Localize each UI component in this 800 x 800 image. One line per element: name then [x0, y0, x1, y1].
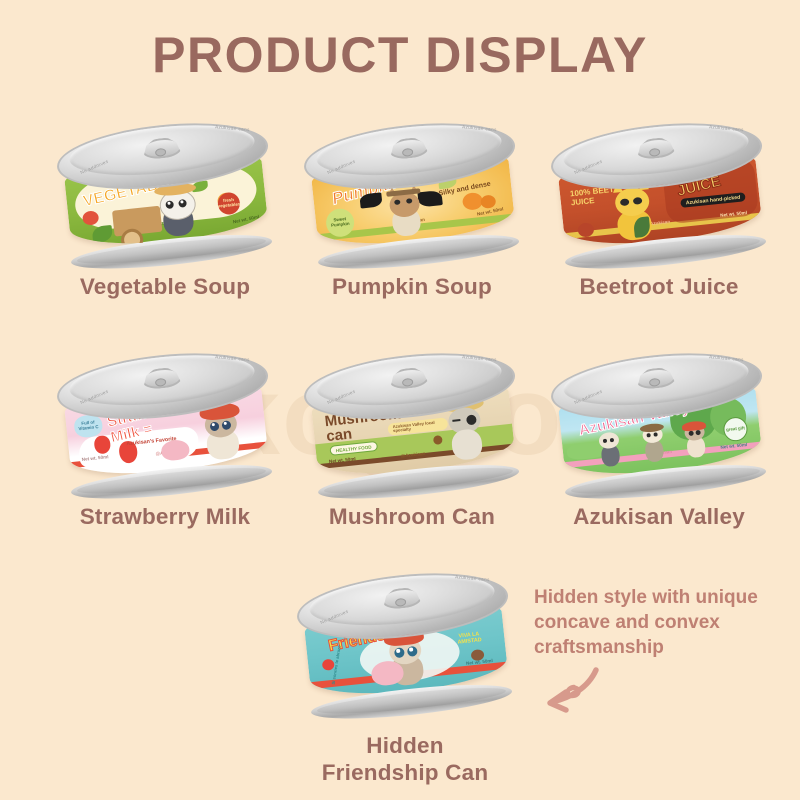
- product-caption: Azukisan Valley: [534, 504, 784, 531]
- pull-tab-icon: [628, 131, 683, 164]
- can-image-beetroot-juice: BEETROOT JUICE 100% BEET JUICE Azukisan …: [544, 115, 774, 265]
- product-card-strawberry-milk[interactable]: Strawberry = Milk = Azukisan's Favorite …: [40, 345, 290, 531]
- pull-tab-icon: [381, 131, 436, 164]
- can-image-strawberry-milk: Strawberry = Milk = Azukisan's Favorite …: [50, 345, 280, 495]
- product-caption: Hidden Friendship Can: [280, 733, 530, 786]
- product-caption: Vegetable Soup: [40, 274, 290, 301]
- product-display-page: Kikogoods PRODUCT DISPLAY VEGETABLE SOUP…: [0, 0, 800, 800]
- product-card-beetroot-juice[interactable]: BEETROOT JUICE 100% BEET JUICE Azukisan …: [534, 115, 784, 301]
- pull-tab-icon: [134, 361, 189, 394]
- product-caption: Strawberry Milk: [40, 504, 290, 531]
- can-image-pumpkin-soup: Pumpkin Soup Silky and dense Sweet Pumpk…: [297, 115, 527, 265]
- pull-tab-icon: [628, 361, 683, 394]
- product-caption-line2: Friendship Can: [280, 760, 530, 787]
- product-card-hidden-friendship-can[interactable]: Friendship Can VIVA LA AMISTAD Si sonrie…: [280, 565, 530, 786]
- page-title: PRODUCT DISPLAY: [0, 26, 800, 84]
- product-card-vegetable-soup[interactable]: VEGETABLE SOUP have you had soup today f…: [40, 115, 290, 301]
- curved-arrow-left-icon: [500, 662, 610, 722]
- can-image-vegetable-soup: VEGETABLE SOUP have you had soup today f…: [50, 115, 280, 265]
- product-caption: Mushroom Can: [287, 504, 537, 531]
- can-image-mushroom-can: Mushroom can HEALTHY FOOD Azukisan Valle…: [297, 345, 527, 495]
- product-card-pumpkin-soup[interactable]: Pumpkin Soup Silky and dense Sweet Pumpk…: [287, 115, 537, 301]
- product-card-mushroom-can[interactable]: Mushroom can HEALTHY FOOD Azukisan Valle…: [287, 345, 537, 531]
- pull-tab-icon: [381, 361, 436, 394]
- product-card-azukisan-valley[interactable]: Azukisan Valley A daily taste of joy gre…: [534, 345, 784, 531]
- product-caption: Pumpkin Soup: [287, 274, 537, 301]
- pull-tab-icon: [374, 581, 429, 614]
- hidden-style-annotation: Hidden style with unique concave and con…: [534, 585, 796, 660]
- pull-tab-icon: [134, 131, 189, 164]
- product-caption: Beetroot Juice: [534, 274, 784, 301]
- product-caption-line1: Hidden: [280, 733, 530, 760]
- can-image-friendship-can: Friendship Can VIVA LA AMISTAD Si sonrie…: [290, 565, 520, 715]
- can-image-azukisan-valley: Azukisan Valley A daily taste of joy gre…: [544, 345, 774, 495]
